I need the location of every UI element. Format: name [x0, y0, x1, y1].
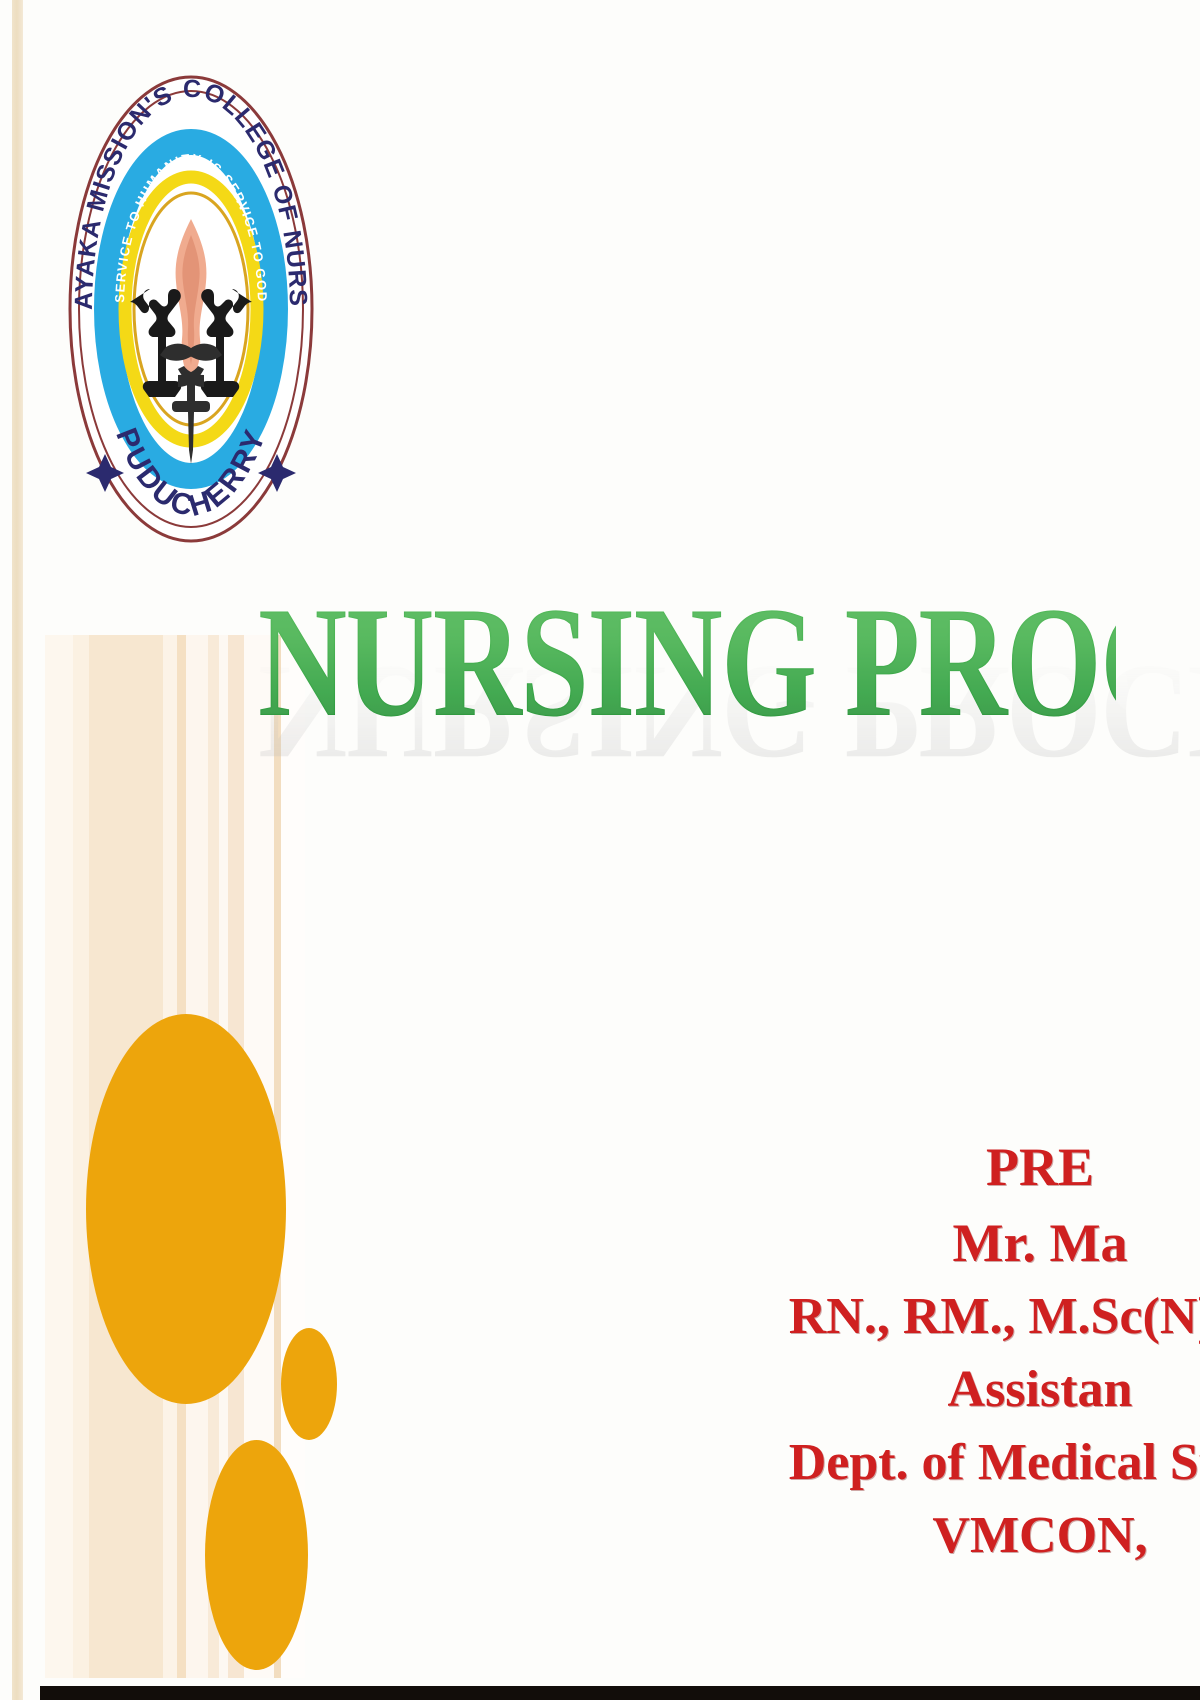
bottom-black-bar — [40, 1686, 1200, 1700]
college-logo: VINAYAKA MISSION'S COLLEGE OF NURSING SE… — [66, 47, 316, 545]
presenter-line-name: Mr. Ma — [560, 1206, 1200, 1282]
presenter-line-heading: PRE — [560, 1130, 1200, 1206]
stripe — [73, 635, 89, 1678]
presenter-line-institution: VMCON, — [560, 1500, 1200, 1573]
presenter-line-designation: Assistan — [560, 1354, 1200, 1427]
presenter-info-block: PRE Mr. Ma RN., RM., M.Sc(N)., D Assista… — [560, 1130, 1200, 1572]
slide-title-block: NURSING PROCESS NURSING PROCESS — [258, 584, 1200, 904]
stripe — [45, 635, 73, 1678]
presentation-slide: VINAYAKA MISSION'S COLLEGE OF NURSING SE… — [0, 0, 1200, 1700]
presenter-line-department: Dept. of Medical Surgi — [560, 1427, 1200, 1500]
decorative-circle-large — [86, 1014, 286, 1404]
left-edge-stripe — [12, 0, 23, 1700]
decorative-circle-medium — [281, 1328, 337, 1440]
slide-title: NURSING PROCESS — [258, 584, 1116, 742]
decorative-circle-small — [205, 1440, 308, 1670]
presenter-line-qualifications: RN., RM., M.Sc(N)., D — [560, 1281, 1200, 1354]
